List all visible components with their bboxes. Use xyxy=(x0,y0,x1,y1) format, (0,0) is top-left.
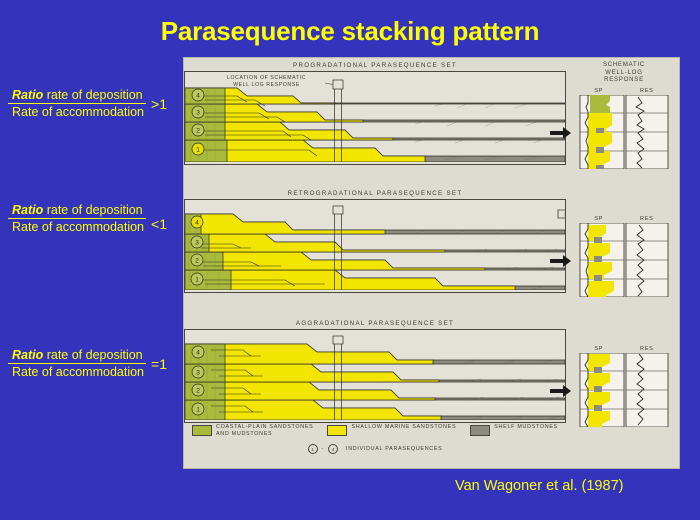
legend-circle-from: 1 xyxy=(308,444,318,454)
welllog-track-res-label: RES xyxy=(640,216,654,222)
legend-label-line1: COASTAL-PLAIN SANDSTONES xyxy=(216,424,313,430)
welllog-track-sp-label: SP xyxy=(594,346,603,352)
flow-arrow-1 xyxy=(550,126,572,145)
ratio-operator: <1 xyxy=(146,216,167,234)
welllog-heading-line3: RESPONSE xyxy=(576,77,672,85)
svg-text:3: 3 xyxy=(196,370,200,377)
ratio-numerator-text: rate of deposition xyxy=(43,203,142,217)
welllog-heading-line1: SCHEMATIC xyxy=(576,62,672,70)
panel-title: AGGRADATIONAL PARASEQUENCE SET xyxy=(184,320,566,329)
page-title: Parasequence stacking pattern xyxy=(0,16,700,47)
figure-diagram: SCHEMATIC WELL-LOG RESPONSE PROGRADATION… xyxy=(184,58,679,468)
annotation-line-2: WELL LOG RESPONSE xyxy=(227,82,306,89)
panel-retrogradational: RETROGRADATIONAL PARASEQUENCE SET xyxy=(184,190,566,293)
legend-item-shallow-marine: SHALLOW MARINE SANDSTONES xyxy=(327,424,456,438)
legend-label-coastal-plain: COASTAL-PLAIN SANDSTONES AND MUDSTONES xyxy=(216,424,313,438)
ratio-label-prograditional: Ratio rate of deposition Rate of accommo… xyxy=(8,88,198,119)
ratio-denominator: Rate of accommodation xyxy=(8,104,146,119)
welllog-aggradational: SP RES xyxy=(576,346,672,432)
legend-label-shallow-marine: SHALLOW MARINE SANDSTONES xyxy=(351,424,456,431)
svg-text:2: 2 xyxy=(196,388,200,395)
legend-item-shelf-mudstones: SHELF MUDSTONES xyxy=(470,424,558,438)
ratio-label-aggradational: Ratio rate of deposition Rate of accommo… xyxy=(8,348,198,379)
svg-text:1: 1 xyxy=(196,147,200,154)
ratio-numerator: Ratio rate of deposition xyxy=(8,348,146,364)
panel-progradational: PROGRADATIONAL PARASEQUENCE SET xyxy=(184,62,566,165)
cross-section-aggradational: 4 3 2 1 xyxy=(184,329,566,423)
annotation-line-1: LOCATION OF SCHEMATIC xyxy=(227,75,306,82)
flow-arrow-2 xyxy=(550,254,572,273)
svg-text:1: 1 xyxy=(195,277,199,284)
welllog-track-res-label: RES xyxy=(640,346,654,352)
legend-swatch-coastal-plain xyxy=(192,425,212,436)
svg-text:1: 1 xyxy=(196,407,200,414)
ratio-numerator-text: rate of deposition xyxy=(43,88,142,102)
ratio-label-retrogradational: Ratio rate of deposition Rate of accommo… xyxy=(8,203,198,234)
welllog-track-res-label: RES xyxy=(640,88,654,94)
ratio-emphasis: Ratio xyxy=(12,203,43,217)
welllog-progradational: SP RES xyxy=(576,88,672,174)
ratio-denominator: Rate of accommodation xyxy=(8,219,146,234)
welllog-retrogradational: SP RES xyxy=(576,216,672,302)
legend-swatch-shallow-marine xyxy=(327,425,347,436)
flow-arrow-3 xyxy=(550,384,572,403)
svg-text:BASINWARD: BASINWARD xyxy=(564,213,566,219)
legend-swatch-shelf-mudstones xyxy=(470,425,490,436)
panel-aggradational: AGGRADATIONAL PARASEQUENCE SET xyxy=(184,320,566,423)
ratio-numerator-text: rate of deposition xyxy=(43,348,142,362)
ratio-emphasis: Ratio xyxy=(12,88,43,102)
svg-text:4: 4 xyxy=(196,93,200,100)
welllog-location-annotation: LOCATION OF SCHEMATIC WELL LOG RESPONSE xyxy=(227,75,306,89)
ratio-denominator: Rate of accommodation xyxy=(8,364,146,379)
cross-section-progradational: 4 3 2 1 LOCATION OF SCHEMATIC WELL LOG R… xyxy=(184,71,566,165)
svg-text:3: 3 xyxy=(196,110,200,117)
ratio-emphasis: Ratio xyxy=(12,348,43,362)
ratio-operator: >1 xyxy=(146,96,167,112)
ratio-numerator: Ratio rate of deposition xyxy=(8,203,146,219)
legend-parasequence-range: 1 - 4 INDIVIDUAL PARASEQUENCES xyxy=(184,444,566,454)
ratio-operator: =1 xyxy=(146,356,167,372)
legend-item-coastal-plain: COASTAL-PLAIN SANDSTONES AND MUDSTONES xyxy=(192,424,313,438)
legend: COASTAL-PLAIN SANDSTONES AND MUDSTONES S… xyxy=(184,424,566,454)
legend-label-line2: AND MUDSTONES xyxy=(216,431,272,437)
svg-text:3: 3 xyxy=(195,240,199,247)
welllog-track-sp-label: SP xyxy=(594,88,603,94)
legend-label-shelf-mudstones: SHELF MUDSTONES xyxy=(494,424,558,431)
welllog-heading-line2: WELL-LOG xyxy=(576,70,672,78)
legend-range-label: INDIVIDUAL PARASEQUENCES xyxy=(346,446,442,453)
ratio-numerator: Ratio rate of deposition xyxy=(8,88,146,104)
cross-section-retrogradational: 4 3 2 1 BASINWARD xyxy=(184,199,566,293)
source-credit: Van Wagoner et al. (1987) xyxy=(455,478,623,494)
panel-title: RETROGRADATIONAL PARASEQUENCE SET xyxy=(184,190,566,199)
svg-text:4: 4 xyxy=(196,350,200,357)
svg-text:2: 2 xyxy=(196,128,200,135)
welllog-heading: SCHEMATIC WELL-LOG RESPONSE xyxy=(576,62,672,85)
svg-text:4: 4 xyxy=(195,220,199,227)
welllog-track-sp-label: SP xyxy=(594,216,603,222)
panel-title: PROGRADATIONAL PARASEQUENCE SET xyxy=(184,62,566,71)
svg-text:2: 2 xyxy=(195,258,199,265)
legend-range-dash: - xyxy=(322,446,325,453)
legend-circle-to: 4 xyxy=(328,444,338,454)
